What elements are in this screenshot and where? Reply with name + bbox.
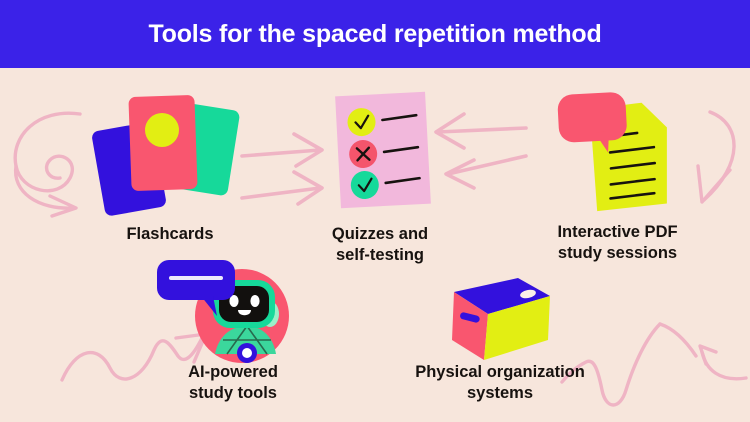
label-line-2: study sessions (510, 243, 725, 264)
label-line-1: Interactive PDF (510, 222, 725, 243)
item-label-interactive-pdf: Interactive PDF study sessions (510, 222, 725, 264)
item-flashcards[interactable]: Flashcards (80, 88, 260, 248)
pdf-document-icon (556, 86, 680, 214)
storage-box-icon (432, 270, 557, 365)
item-label-ai-tools: AI-powered study tools (133, 362, 333, 404)
flashcards-icon (80, 88, 240, 213)
item-physical-organization[interactable]: Physical organization systems (420, 270, 580, 415)
page-title: Tools for the spaced repetition method (0, 0, 750, 68)
item-label-physical-organization: Physical organization systems (380, 362, 620, 404)
item-interactive-pdf[interactable]: Interactive PDF study sessions (548, 86, 683, 271)
label-line-2: study tools (133, 383, 333, 404)
label-line-1: AI-powered (133, 362, 333, 383)
item-quizzes[interactable]: Quizzes and self-testing (320, 88, 440, 273)
label-line-1: Quizzes and (270, 224, 490, 245)
item-label-flashcards: Flashcards (60, 224, 280, 245)
item-ai-tools[interactable]: AI-powered study tools (155, 258, 300, 413)
label-line-1: Flashcards (126, 225, 213, 243)
quiz-sheet-icon (330, 88, 436, 212)
infographic-canvas: Tools for the spaced repetition method (0, 0, 750, 422)
robot-icon (155, 258, 305, 358)
label-line-1: Physical organization (380, 362, 620, 383)
label-line-2: systems (380, 383, 620, 404)
